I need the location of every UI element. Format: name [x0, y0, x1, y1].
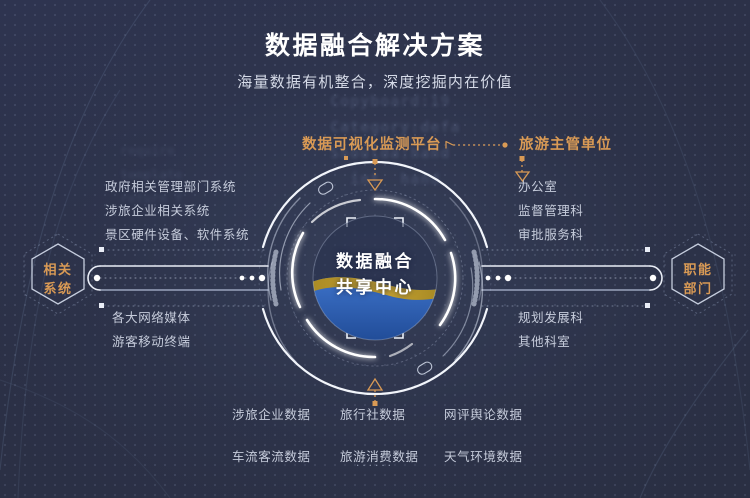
list-item[interactable]: 审批服务科 [518, 223, 584, 247]
list-item[interactable]: 旅行社数据 [340, 404, 444, 423]
bottom-triangle-marker [368, 379, 382, 406]
top-label-tourism-authority[interactable]: 旅游主管单位 [519, 133, 612, 154]
hexagon-left-line2: 系统 [43, 279, 72, 298]
page-subtitle: 海量数据有机整合，深度挖掘内在价值 [0, 71, 750, 92]
hexagon-badge-functional-departments[interactable]: 职能 部门 [652, 232, 744, 326]
hexagon-left-line1: 相关 [43, 260, 72, 279]
list-item[interactable]: 涉旅企业数据 [232, 404, 340, 423]
column-left-top: 政府相关管理部门系统 涉旅企业相关系统 景区硬件设备、软件系统 [105, 175, 249, 247]
list-item[interactable]: 监督管理科 [518, 199, 584, 223]
top-labels-connector-arrow [444, 140, 510, 150]
list-item[interactable]: 各大网络媒体 [112, 306, 191, 330]
page-title: 数据融合解决方案 [0, 26, 750, 62]
list-item[interactable]: 涉旅企业相关系统 [105, 199, 249, 223]
hexagon-right-line1: 职能 [683, 260, 712, 279]
list-item[interactable]: 景区硬件设备、软件系统 [105, 223, 249, 247]
bottom-ellipsis: ...... [0, 455, 750, 469]
column-right-bottom: 规划发展科 其他科室 [518, 306, 584, 354]
center-sphere [305, 216, 455, 350]
top-triangle-marker [368, 159, 382, 190]
list-item[interactable]: 游客移动终端 [112, 330, 191, 354]
list-item[interactable]: 规划发展科 [518, 306, 584, 330]
infographic-canvas: Copyboard:19 Category:defa Shoulda:hand … [0, 0, 750, 498]
top-label-visualization-platform[interactable]: 数据可视化监测平台 [302, 133, 442, 154]
left-rail-nodes [94, 247, 265, 308]
hexagon-badge-related-systems[interactable]: 相关 系统 [12, 232, 104, 326]
column-right-top: 办公室 监督管理科 审批服务科 [518, 175, 584, 247]
list-item[interactable]: 办公室 [518, 175, 584, 199]
hexagon-right-line2: 部门 [683, 279, 712, 298]
list-item[interactable]: 网评舆论数据 [444, 404, 544, 423]
list-item[interactable]: 政府相关管理部门系统 [105, 175, 249, 199]
top-label-left-stem [344, 156, 348, 160]
column-left-bottom: 各大网络媒体 游客移动终端 [112, 306, 191, 354]
list-item[interactable]: 其他科室 [518, 330, 584, 354]
